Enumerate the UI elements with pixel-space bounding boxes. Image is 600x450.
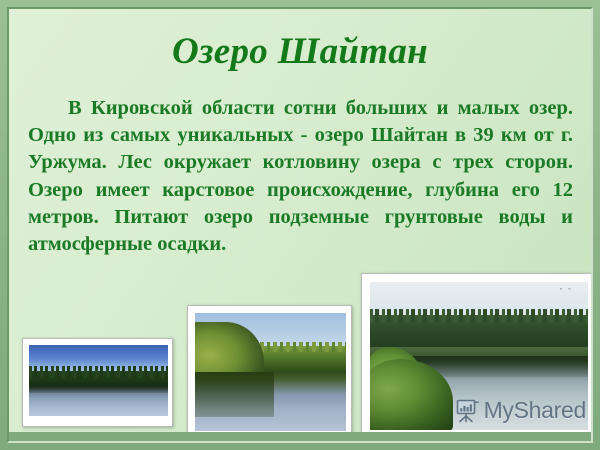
photo-frame-middle — [187, 305, 352, 432]
photo-image-middle — [195, 313, 346, 431]
flipchart-icon — [454, 399, 480, 423]
slide-body-text: В Кировской области сотни больших и малы… — [28, 95, 573, 258]
slide-canvas: Озеро Шайтан В Кировской области сотни б… — [9, 9, 591, 432]
water-reflection-layer — [29, 385, 168, 393]
photo-frame-right: " " MyShared — [361, 273, 591, 432]
myshared-watermark: MyShared — [454, 397, 586, 424]
presentation-slide: Озеро Шайтан В Кировской области сотни б… — [0, 0, 600, 450]
photo-image-left — [29, 345, 168, 416]
watermark-label: MyShared — [484, 397, 586, 424]
birds-icon: " " — [560, 288, 573, 295]
water-reflection-layer — [195, 372, 274, 417]
photo-frame-left — [22, 338, 173, 427]
page-title: Озеро Шайтан — [9, 30, 591, 74]
photo-image-right: " " MyShared — [370, 282, 588, 430]
